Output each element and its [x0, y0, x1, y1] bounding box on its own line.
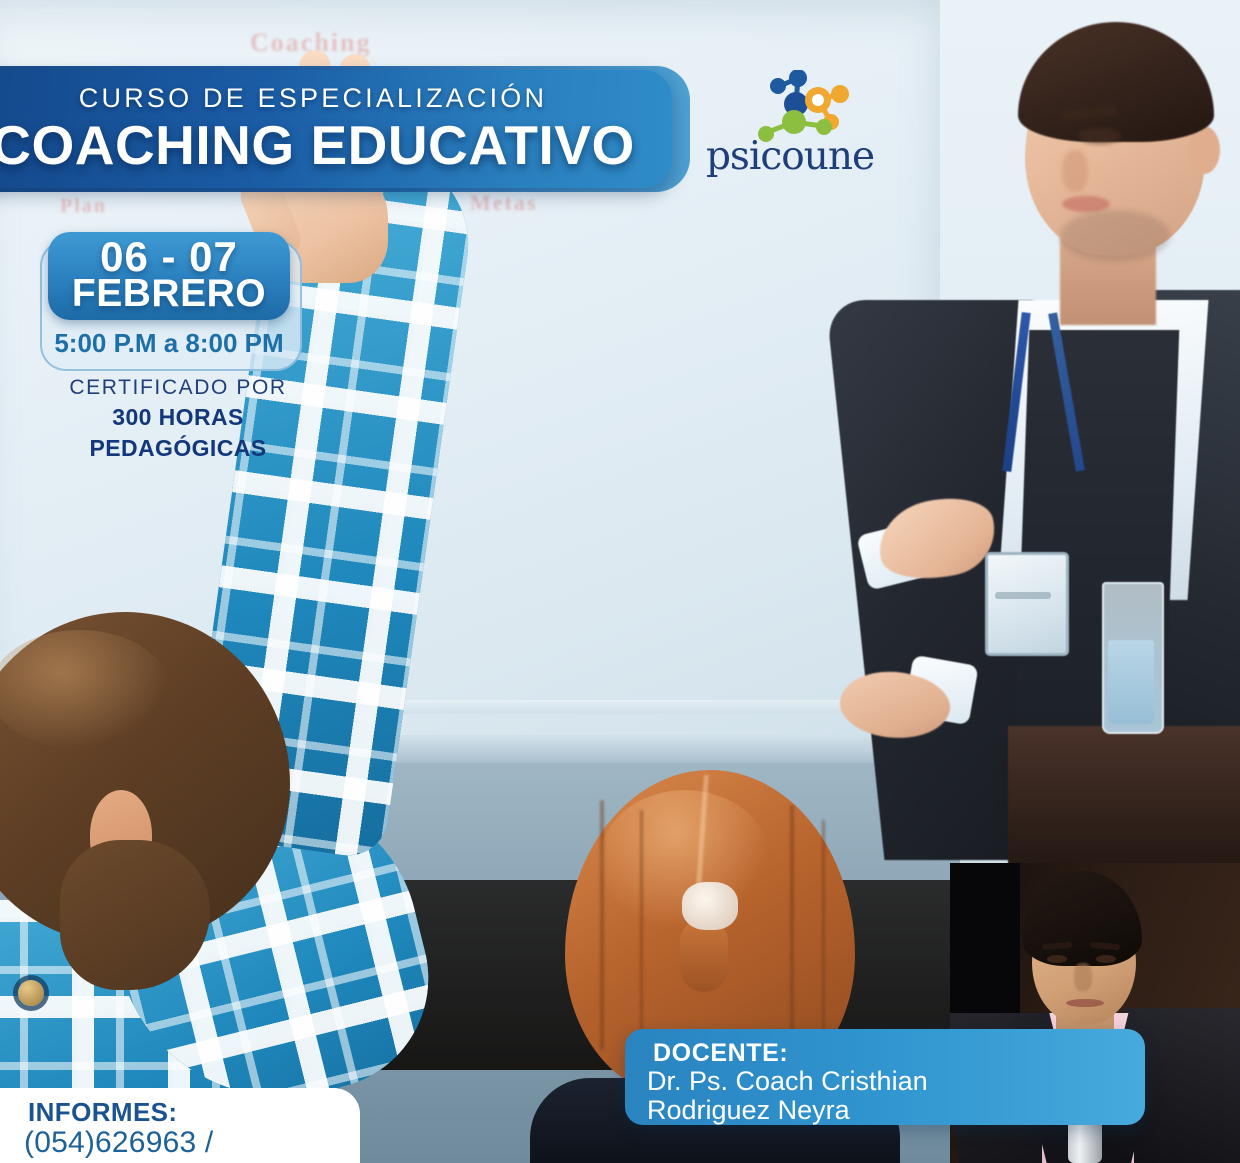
certificate-hours: 300 HORAS PEDAGÓGICAS: [28, 402, 328, 464]
certificate-info: CERTIFICADO POR 300 HORAS PEDAGÓGICAS: [28, 374, 328, 464]
instructor-name-line-1: Dr. Ps. Coach Cristhian: [647, 1067, 928, 1096]
instructor-name: Dr. Ps. Coach Cristhian Rodriguez Neyra: [647, 1067, 928, 1125]
date-badge-front: 06 - 07 FEBRERO: [48, 232, 290, 320]
instructor-eye: [1096, 955, 1116, 963]
logo-wordmark: psicoune: [700, 134, 880, 179]
water-in-glass: [1108, 640, 1154, 724]
presenter-id-badge: [985, 552, 1069, 656]
instructor-name-line-2: Rodriguez Neyra: [647, 1096, 928, 1125]
presenter-badge-text-line: [995, 592, 1051, 599]
hair-strand: [790, 805, 794, 1055]
certificate-label: CERTIFICADO POR: [28, 374, 328, 402]
whiteboard-scribble: Plan: [60, 195, 107, 218]
contact-panel: INFORMES: (054)626963 / 958336625: [0, 1088, 360, 1163]
course-month: FEBRERO: [48, 274, 290, 315]
hair-strand: [822, 820, 825, 1050]
instructor-photo-dark-panel: [950, 863, 1020, 1028]
course-title: COACHING EDUCATIVO: [0, 118, 635, 173]
instructor-nose: [1074, 963, 1092, 991]
instructor-label: DOCENTE:: [653, 1039, 788, 1068]
whiteboard-scribble: Metas: [470, 190, 537, 216]
presenter-nose: [1062, 150, 1088, 192]
instructor-eye: [1047, 955, 1067, 963]
course-promo-poster: Coaching Metas Plan: [0, 0, 1240, 1163]
course-subtitle: CURSO DE ESPECIALIZACIÓN: [79, 85, 547, 112]
psicoune-logo: psicoune: [700, 72, 880, 184]
shirt-button: [18, 980, 44, 1006]
course-time: 5:00 P.M a 8:00 PM: [40, 328, 298, 359]
instructor-mouth: [1066, 999, 1104, 1007]
hair-clip: [682, 882, 738, 930]
contact-label: INFORMES:: [28, 1097, 177, 1128]
contact-phones[interactable]: (054)626963 / 958336625: [24, 1126, 360, 1163]
instructor-banner: DOCENTE: Dr. Ps. Coach Cristhian Rodrigu…: [625, 1029, 1145, 1125]
presenter-eye: [1078, 128, 1122, 144]
title-banner: CURSO DE ESPECIALIZACIÓN COACHING EDUCAT…: [0, 66, 690, 192]
date-badge: 06 - 07 FEBRERO 5:00 P.M a 8:00 PM: [40, 232, 298, 367]
hair-strand: [600, 800, 604, 1050]
podium: [1008, 726, 1240, 886]
presenter-chin-shadow: [1060, 210, 1170, 262]
title-banner-text-group: CURSO DE ESPECIALIZACIÓN COACHING EDUCAT…: [0, 66, 690, 192]
